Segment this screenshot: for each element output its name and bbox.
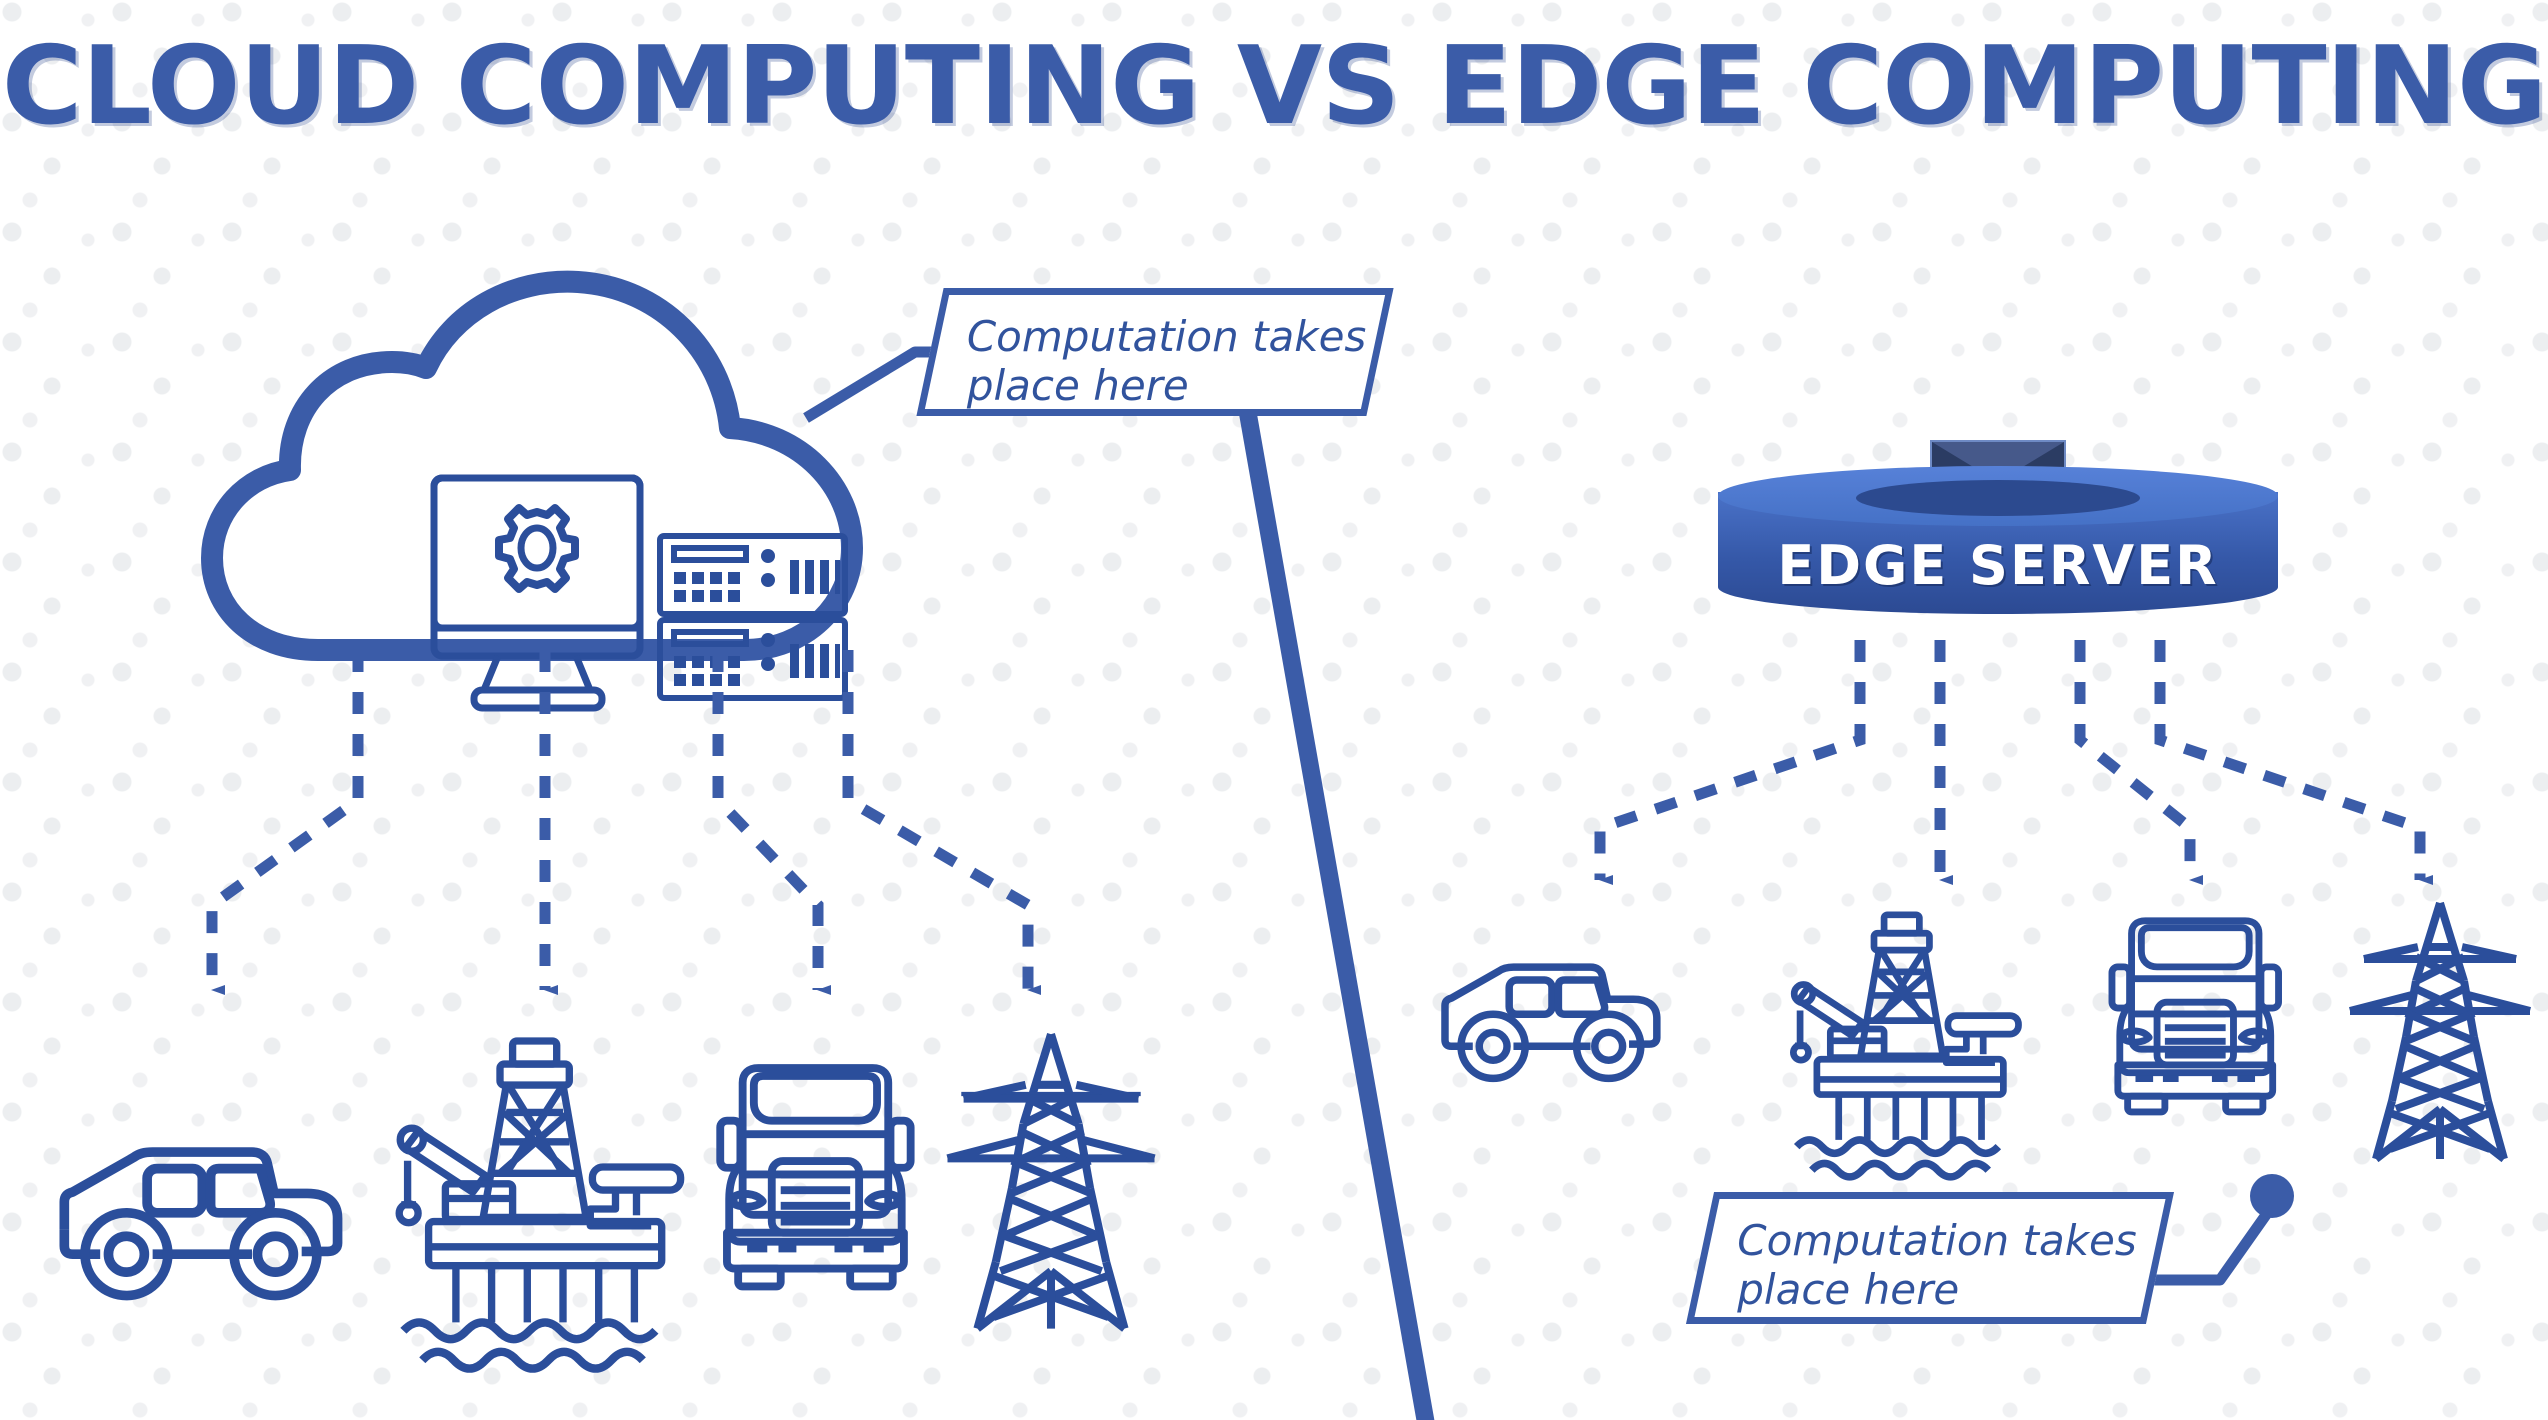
callout-edge: Computation takes place here: [1686, 1192, 2174, 1324]
infographic-canvas: CLOUD COMPUTING VS EDGE COMPUTING: [0, 0, 2548, 1420]
oil-rig-icon: [1793, 915, 2018, 1177]
semi-truck-front-icon: [2112, 921, 2279, 1112]
callout-cloud-text: Computation takes place here: [937, 295, 1373, 410]
power-pylon-icon: [2350, 903, 2530, 1159]
oil-rig-icon: [399, 1041, 680, 1369]
edge-callout-connector: [2146, 1174, 2294, 1280]
cylinder-inner-hole: [1856, 480, 2140, 516]
callout-cloud: Computation takes place here: [916, 288, 1393, 416]
server-rack-icon: [660, 536, 845, 614]
cloud-icon: [212, 282, 852, 650]
power-pylon-icon: [948, 1034, 1155, 1328]
diagonal-divider: [1218, 295, 1435, 1420]
cloud-endpoint-connectors: [212, 650, 1028, 990]
edge-endpoint-connectors: [1600, 640, 2420, 880]
server-rack-icon: [660, 620, 845, 698]
suv-vehicle-icon: [64, 1152, 337, 1296]
semi-truck-front-icon: [720, 1068, 910, 1286]
connector-endpoint-dot: [2250, 1174, 2294, 1218]
page-title: CLOUD COMPUTING VS EDGE COMPUTING: [0, 24, 2548, 149]
monitor-with-gear-icon: [434, 478, 640, 708]
edge-server-cylinder-icon: EDGE SERVER: [1718, 466, 2278, 634]
suv-vehicle-icon: [1445, 967, 1657, 1078]
callout-edge-text: Computation takes place here: [1707, 1199, 2153, 1314]
edge-server-label: EDGE SERVER: [1718, 534, 2278, 597]
cylinder-top: [1718, 466, 2278, 526]
